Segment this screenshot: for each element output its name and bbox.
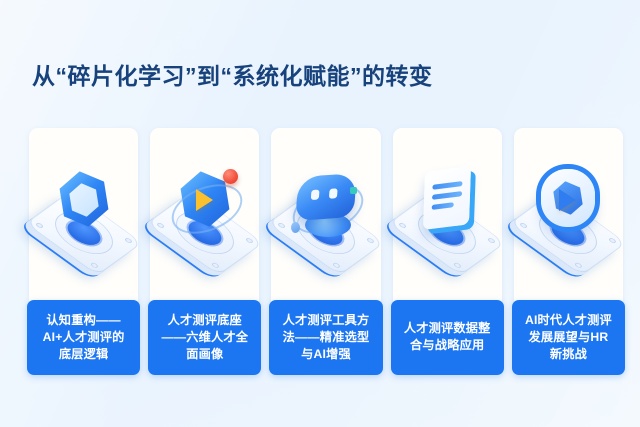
- play-hexagon-orbit-icon: [153, 161, 257, 281]
- card-label-line: 与AI增强: [283, 346, 370, 363]
- card-illustration: [391, 146, 504, 296]
- card-label-5: AI时代人才测评 发展展望与HR 新挑战: [512, 300, 625, 375]
- slide-canvas: 从“碎片化学习”到“系统化赋能”的转变: [0, 0, 640, 427]
- card-label-line: 发展展望与HR: [525, 329, 612, 346]
- card-label-2: 人才测评底座 ——六维人才全 面画像: [148, 300, 261, 375]
- card-label-line: 人才测评工具方: [283, 312, 370, 329]
- card-illustration: [512, 146, 625, 296]
- red-sphere-icon: [223, 169, 238, 184]
- card-label-line: 合与战略应用: [404, 337, 491, 354]
- teal-dot-icon: [350, 187, 357, 194]
- play-ring-hexagon-icon: [516, 161, 620, 281]
- card-label-line: 法——精准选型: [283, 329, 370, 346]
- blue-dot-icon: [291, 222, 300, 233]
- shield-object: [49, 167, 119, 243]
- card-label-line: 人才测评数据整: [404, 320, 491, 337]
- card-illustration: [269, 146, 382, 296]
- card-illustration: [27, 146, 140, 296]
- shield-on-pedestal-icon: [32, 161, 136, 281]
- card-item-1[interactable]: 认知重构—— AI+人才测评的 底层逻辑: [27, 128, 140, 376]
- card-label-1: 认知重构—— AI+人才测评的 底层逻辑: [27, 300, 140, 375]
- card-item-3[interactable]: 人才测评工具方 法——精准选型 与AI增强: [269, 128, 382, 376]
- card-label-4: 人才测评数据整 合与战略应用: [391, 300, 504, 375]
- document-object: [412, 167, 482, 243]
- card-label-line: 底层逻辑: [43, 346, 125, 363]
- card-label-line: 人才测评底座: [161, 312, 248, 329]
- card-item-2[interactable]: 人才测评底座 ——六维人才全 面画像: [148, 128, 261, 376]
- card-label-line: AI+人才测评的: [43, 329, 125, 346]
- card-row: 认知重构—— AI+人才测评的 底层逻辑: [27, 128, 625, 376]
- play-triangle-icon: [559, 189, 576, 211]
- ring-hexagon-object: [533, 167, 603, 243]
- card-label-line: 认知重构——: [43, 312, 125, 329]
- card-label-line: 新挑战: [525, 346, 612, 363]
- document-lines-icon: [395, 161, 499, 281]
- card-label-line: AI时代人才测评: [525, 312, 612, 329]
- page-title: 从“碎片化学习”到“系统化赋能”的转变: [32, 57, 433, 91]
- play-triangle-icon: [196, 189, 213, 211]
- card-label-line: 面画像: [161, 346, 248, 363]
- ai-cloud-orbit-icon: [274, 161, 378, 281]
- cloud-face-object: [291, 167, 361, 243]
- card-label-3: 人才测评工具方 法——精准选型 与AI增强: [269, 300, 382, 375]
- hexagon-play-object: [170, 167, 240, 243]
- card-item-5[interactable]: AI时代人才测评 发展展望与HR 新挑战: [512, 128, 625, 376]
- card-label-line: ——六维人才全: [161, 329, 248, 346]
- card-item-4[interactable]: 人才测评数据整 合与战略应用: [391, 128, 504, 376]
- card-illustration: [148, 146, 261, 296]
